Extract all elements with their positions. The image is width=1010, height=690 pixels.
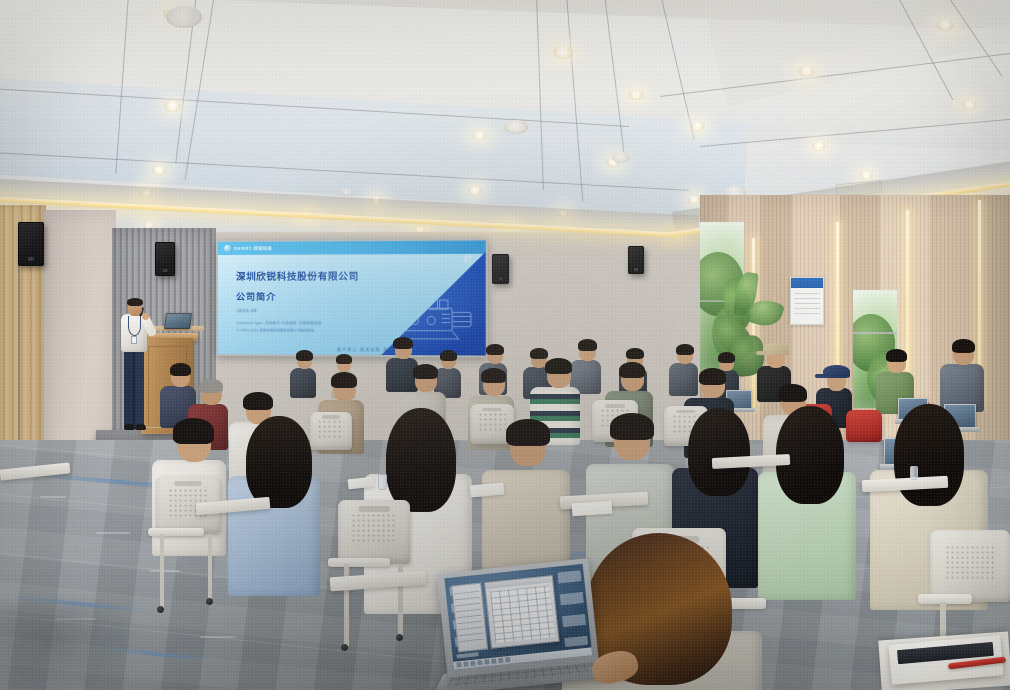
slide-corner-mark: 欣 <box>464 254 471 265</box>
recessed-downlight <box>690 122 705 131</box>
recessed-downlight <box>962 100 977 110</box>
wall-speaker-stage <box>155 242 175 276</box>
recessed-downlight <box>688 196 700 204</box>
recessed-downlight <box>552 46 574 59</box>
shinry-logo-icon <box>224 245 231 252</box>
smoke-detector <box>612 152 630 163</box>
presenter-laptop <box>164 313 192 329</box>
smoke-detector <box>166 6 202 28</box>
taskbar-item[interactable] <box>491 659 496 664</box>
long-hair <box>688 408 750 496</box>
smoke-detector <box>504 120 528 134</box>
water-bottle <box>910 466 918 480</box>
foreground-blur-chair <box>0 600 140 690</box>
water-bottle <box>378 474 387 490</box>
slide-subtitle: 公司简介 <box>236 290 276 303</box>
slide-logo-text: SHINRY 欣锐科技 <box>234 245 272 251</box>
projection-screen: SHINRY 欣锐科技 欣 深圳欣锐科技股份有 <box>216 238 488 357</box>
slide-meta-line-2: © 2003-2024 深圳欣锐科技股份有限公司版权所有 <box>237 327 314 332</box>
recessed-downlight <box>936 20 954 31</box>
taskbar-item[interactable] <box>463 662 468 667</box>
taskbar-item[interactable] <box>470 661 475 666</box>
taskbar-item[interactable] <box>477 660 482 665</box>
recessed-downlight <box>468 186 482 195</box>
recessed-downlight <box>628 90 644 100</box>
slide-title: 深圳欣锐科技股份有限公司 <box>236 269 359 283</box>
spreadsheet-grid[interactable] <box>490 585 555 643</box>
recessed-downlight <box>812 142 826 151</box>
conference-room-photo: SHINRY 欣锐科技 欣 深圳欣锐科技股份有 <box>0 0 1010 690</box>
recessed-downlight <box>472 131 487 140</box>
taskbar-item[interactable] <box>484 659 489 664</box>
long-hair <box>386 408 456 512</box>
spreadsheet-window[interactable] <box>484 575 560 648</box>
wall-speaker-left <box>18 222 44 266</box>
taskbar-item[interactable] <box>505 657 510 662</box>
wall-speaker-right <box>492 254 509 284</box>
slide-date: 2024.08 <box>237 308 257 313</box>
wall-poster <box>790 277 824 325</box>
long-hair <box>894 404 964 506</box>
product-lineart-icon <box>392 290 480 343</box>
taskbar-item[interactable] <box>456 662 461 667</box>
slide-meta-line-1: business type: 汽车电子 产品领域: 车载电源系统 <box>237 320 322 325</box>
recessed-downlight <box>164 101 181 112</box>
taskbar-item[interactable] <box>498 658 503 663</box>
long-hair <box>246 416 312 508</box>
hp-logo <box>524 676 535 685</box>
handout-paper <box>572 501 613 517</box>
wall-speaker-far-right <box>628 246 644 274</box>
recessed-downlight <box>152 166 166 175</box>
lanyard-id-badge <box>128 316 141 336</box>
slide-header-bar: SHINRY 欣锐科技 <box>218 240 486 255</box>
presentation-slide: SHINRY 欣锐科技 欣 深圳欣锐科技股份有 <box>218 240 486 355</box>
recessed-downlight <box>798 66 815 77</box>
smoke-detector <box>340 188 354 196</box>
recessed-downlight <box>860 172 873 180</box>
foreground-laptop <box>437 557 617 690</box>
laptop-screen <box>444 564 592 670</box>
